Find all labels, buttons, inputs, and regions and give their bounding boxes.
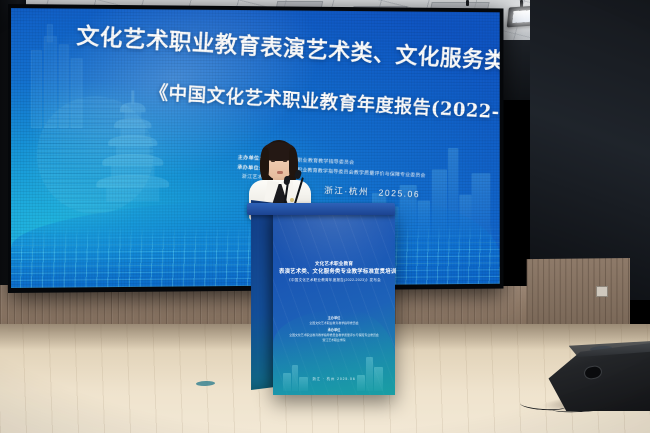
podium-organizer-value: 浙江艺术职业学院 (279, 338, 389, 344)
podium-top-surface (247, 203, 395, 215)
hair-left (260, 148, 269, 182)
event-title-sub: 《中国文化艺术职业教育年度报告(2022-2023)》发布会 (149, 83, 500, 131)
conference-stage-scene: 文化艺术职业教育表演艺术类、文化服务类专业教学标准宣贯培训 《中国文化艺术职业教… (0, 0, 650, 433)
event-date: 2025.06 (378, 188, 420, 200)
podium-skyline-icon (279, 351, 389, 391)
event-title-main: 文化艺术职业教育表演艺术类、文化服务类专业教学标准宣贯培训 (76, 25, 500, 88)
eye-left (271, 160, 275, 162)
podium-title-block: 文化艺术职业教育 表演艺术类、文化服务类专业教学标准宣贯培训 《中国文化艺术职业… (279, 261, 389, 283)
podium-title-line3: 《中国文化艺术职业教育年度报告(2022-2023)》发布会 (279, 277, 389, 283)
podium-title-line2: 表演艺术类、文化服务类专业教学标准宣贯培训 (279, 268, 389, 277)
podium-place-line: 浙江 · 杭州 2025.06 (273, 376, 395, 381)
wood-wall-panel-right (527, 258, 630, 326)
wall-outlet (596, 286, 608, 297)
light-mount-arm (466, 0, 469, 6)
right-wall (530, 0, 650, 300)
mouth (277, 171, 283, 174)
podium-front-panel: 文化艺术职业教育 表演艺术类、文化服务类专业教学标准宣贯培训 《中国文化艺术职业… (273, 209, 395, 395)
podium-title-line1: 文化艺术职业教育 (279, 261, 389, 268)
event-location: 浙江·杭州 (324, 183, 369, 198)
lectern-podium: 文化艺术职业教育 表演艺术类、文化服务类专业教学标准宣贯培训 《中国文化艺术职业… (247, 203, 395, 395)
podium-side-panel (251, 200, 275, 390)
podium-organizer-list: 主办单位 全国文化艺术职业教育教学指导委员会 承办单位 全国文化艺术职业教育教学… (279, 315, 389, 344)
floor-monitor-speaker (545, 337, 650, 411)
eye-right (283, 160, 287, 162)
